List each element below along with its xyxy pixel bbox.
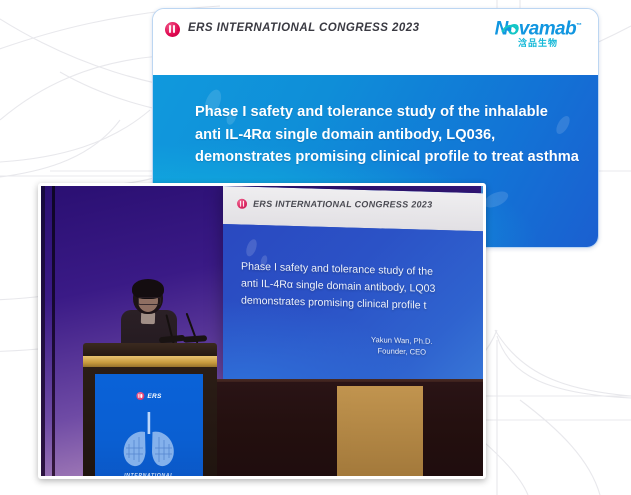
side-table xyxy=(337,386,423,476)
projection-screen: ERS INTERNATIONAL CONGRESS 2023 Phase I … xyxy=(223,186,483,393)
speaker-glasses-icon xyxy=(138,297,161,305)
projected-header-title: ERS INTERNATIONAL CONGRESS 2023 xyxy=(253,199,433,210)
podium-ers-label: ERS xyxy=(147,393,161,400)
podium-ers-logo: ERS xyxy=(136,392,161,400)
slide-header: ERS INTERNATIONAL CONGRESS 2023 Novamab™… xyxy=(153,9,598,75)
novamab-swoosh-icon xyxy=(501,22,518,39)
ers-lungs-circle-icon xyxy=(237,199,247,209)
slide-title-line-1: Phase I safety and tolerance study of th… xyxy=(195,101,572,124)
novamab-logo: Novamab™ 浛品生物 xyxy=(490,17,586,51)
conference-presentation-photo: ERS INTERNATIONAL CONGRESS 2023 Phase I … xyxy=(38,183,486,479)
ers-lungs-circle-icon xyxy=(165,22,180,37)
novamab-chinese-name: 浛品生物 xyxy=(490,38,586,49)
projected-header-row: ERS INTERNATIONAL CONGRESS 2023 xyxy=(237,199,433,210)
podium-display: ERS INTERNATIONAL xyxy=(95,374,203,476)
slide-title-line-3: demonstrates promising clinical profile … xyxy=(195,146,572,169)
trademark-icon: ™ xyxy=(576,23,581,29)
projected-slide-body: Phase I safety and tolerance study of th… xyxy=(223,224,483,393)
bubble-decoration xyxy=(244,238,259,258)
podium-top xyxy=(83,343,217,357)
wall-left-edge xyxy=(41,186,45,476)
slide-title: Phase I safety and tolerance study of th… xyxy=(195,101,572,169)
presenter-credit: Yakun Wan, Ph.D. Founder, CEO xyxy=(371,334,433,358)
slide-title-line-2: anti IL-4Rα single domain antibody, LQ03… xyxy=(195,124,572,147)
page-root: ERS INTERNATIONAL CONGRESS 2023 Novamab™… xyxy=(0,0,631,495)
ers-lungs-circle-icon xyxy=(136,392,144,400)
presenter-role: Founder, CEO xyxy=(371,345,433,358)
projected-slide-title: Phase I safety and tolerance study of th… xyxy=(241,259,483,317)
slide-header-title: ERS INTERNATIONAL CONGRESS 2023 xyxy=(188,22,419,34)
novamab-letters-rest: vamab xyxy=(519,18,576,39)
wall-seam xyxy=(52,186,55,476)
photo-content: ERS INTERNATIONAL CONGRESS 2023 Phase I … xyxy=(41,186,483,476)
lungs-icon xyxy=(114,410,184,468)
novamab-wordmark: Novamab™ xyxy=(495,17,582,38)
podium-bottom-text: INTERNATIONAL xyxy=(124,473,174,476)
speaker-hair xyxy=(132,279,164,299)
